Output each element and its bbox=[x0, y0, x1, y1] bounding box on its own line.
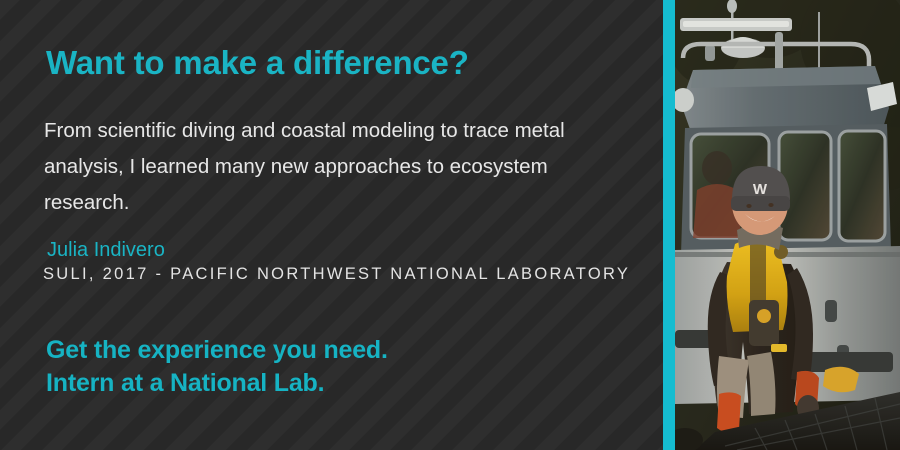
cta-line-1: Get the experience you need. bbox=[46, 334, 388, 367]
intern-photo: W bbox=[675, 0, 900, 450]
cta-line-2: Intern at a National Lab. bbox=[46, 367, 388, 400]
call-to-action: Get the experience you need. Intern at a… bbox=[46, 334, 388, 400]
intern-photo-illustration: W bbox=[675, 0, 900, 450]
page-title: Want to make a difference? bbox=[46, 44, 469, 82]
attribution-role: SULI, 2017 - PACIFIC NORTHWEST NATIONAL … bbox=[43, 265, 630, 284]
recruitment-banner: Want to make a difference? From scientif… bbox=[0, 0, 900, 450]
attribution-name: Julia Indivero bbox=[47, 239, 165, 262]
teal-divider bbox=[663, 0, 675, 450]
text-panel: Want to make a difference? From scientif… bbox=[0, 0, 663, 450]
testimonial-quote: From scientific diving and coastal model… bbox=[44, 113, 624, 221]
